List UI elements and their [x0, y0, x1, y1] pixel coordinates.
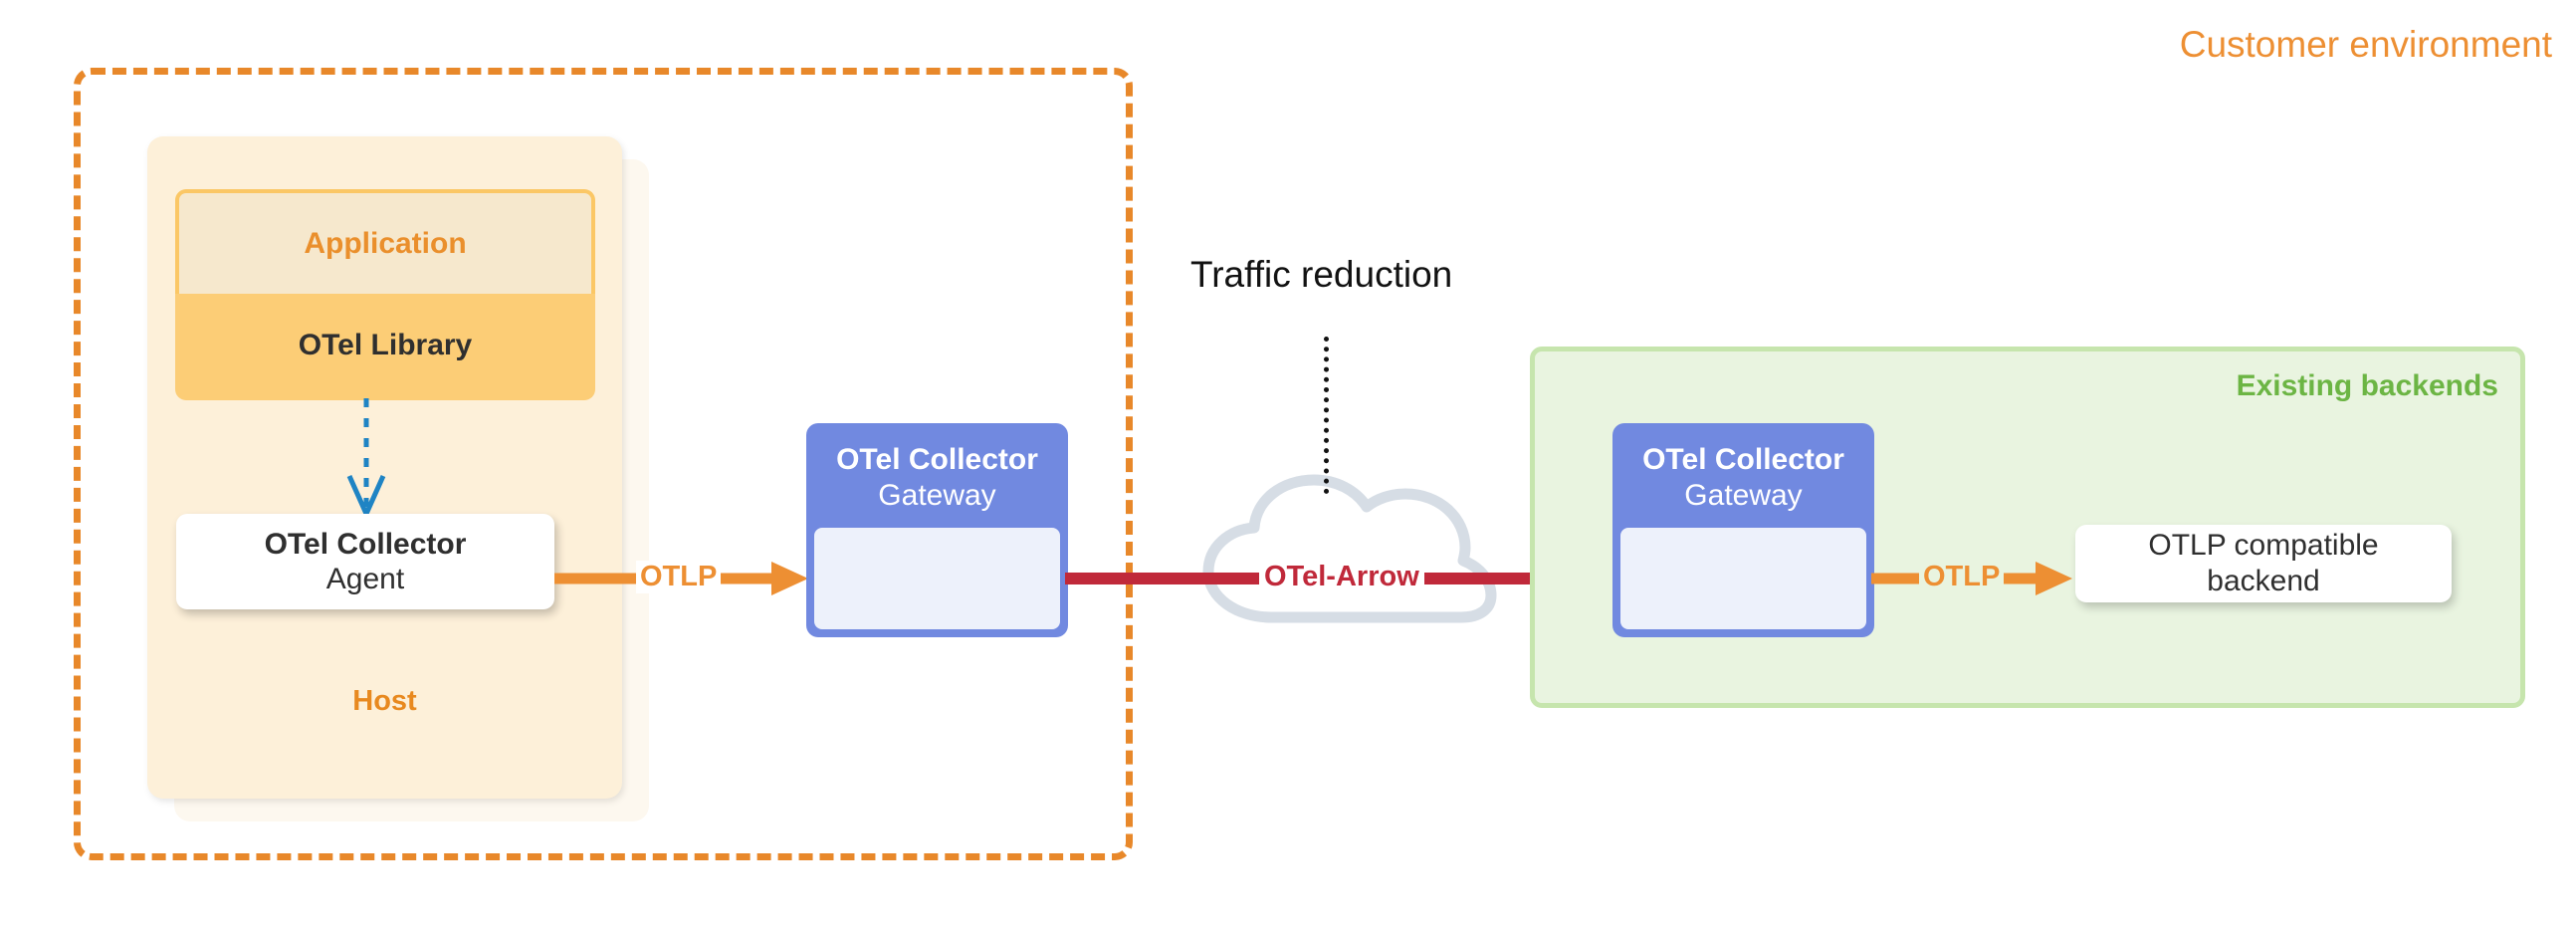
- otlp-compatible-backend-card: OTLP compatible backend: [2075, 525, 2452, 602]
- traffic-reduction-annotation: Traffic reduction: [1190, 254, 1452, 296]
- otel-arrow-edge-label: OTel-Arrow: [1259, 561, 1424, 593]
- architecture-diagram: Customer environment Host Application OT…: [0, 0, 2576, 932]
- otel-collector-gateway-backend: OTel Collector Gateway: [1612, 423, 1874, 637]
- existing-backends-label: Existing backends: [2237, 369, 2498, 403]
- otel-library-box: OTel Library: [175, 294, 595, 400]
- gateway-subtitle: Gateway: [1612, 478, 1874, 514]
- otlp-edge-label-1: OTLP: [636, 561, 721, 593]
- backend-label-line1: OTLP compatible: [2148, 528, 2378, 564]
- gateway-pipeline-area: [814, 528, 1060, 629]
- otel-library-label: OTel Library: [299, 329, 473, 362]
- application-box: Application: [175, 189, 595, 294]
- otel-collector-gateway-customer: OTel Collector Gateway: [806, 423, 1068, 637]
- backend-label-line2: backend: [2207, 564, 2319, 599]
- host-label: Host: [147, 685, 622, 718]
- library-to-agent-arrow: [336, 398, 396, 518]
- otel-collector-agent-title: OTel Collector: [265, 527, 467, 562]
- customer-environment-label: Customer environment: [2180, 24, 2552, 66]
- gateway-subtitle: Gateway: [806, 478, 1068, 514]
- gateway-pipeline-area: [1620, 528, 1866, 629]
- gateway-title: OTel Collector: [1612, 442, 1874, 478]
- otel-collector-agent-card: OTel Collector Agent: [176, 514, 554, 609]
- otel-collector-agent-subtitle: Agent: [326, 562, 404, 596]
- otlp-edge-label-2: OTLP: [1919, 561, 2004, 593]
- gateway-title-block: OTel Collector Gateway: [1612, 442, 1874, 514]
- cloud-icon: [1184, 458, 1503, 637]
- application-label: Application: [304, 227, 466, 261]
- gateway-title: OTel Collector: [806, 442, 1068, 478]
- traffic-reduction-leader-line: [1324, 337, 1335, 494]
- gateway-title-block: OTel Collector Gateway: [806, 442, 1068, 514]
